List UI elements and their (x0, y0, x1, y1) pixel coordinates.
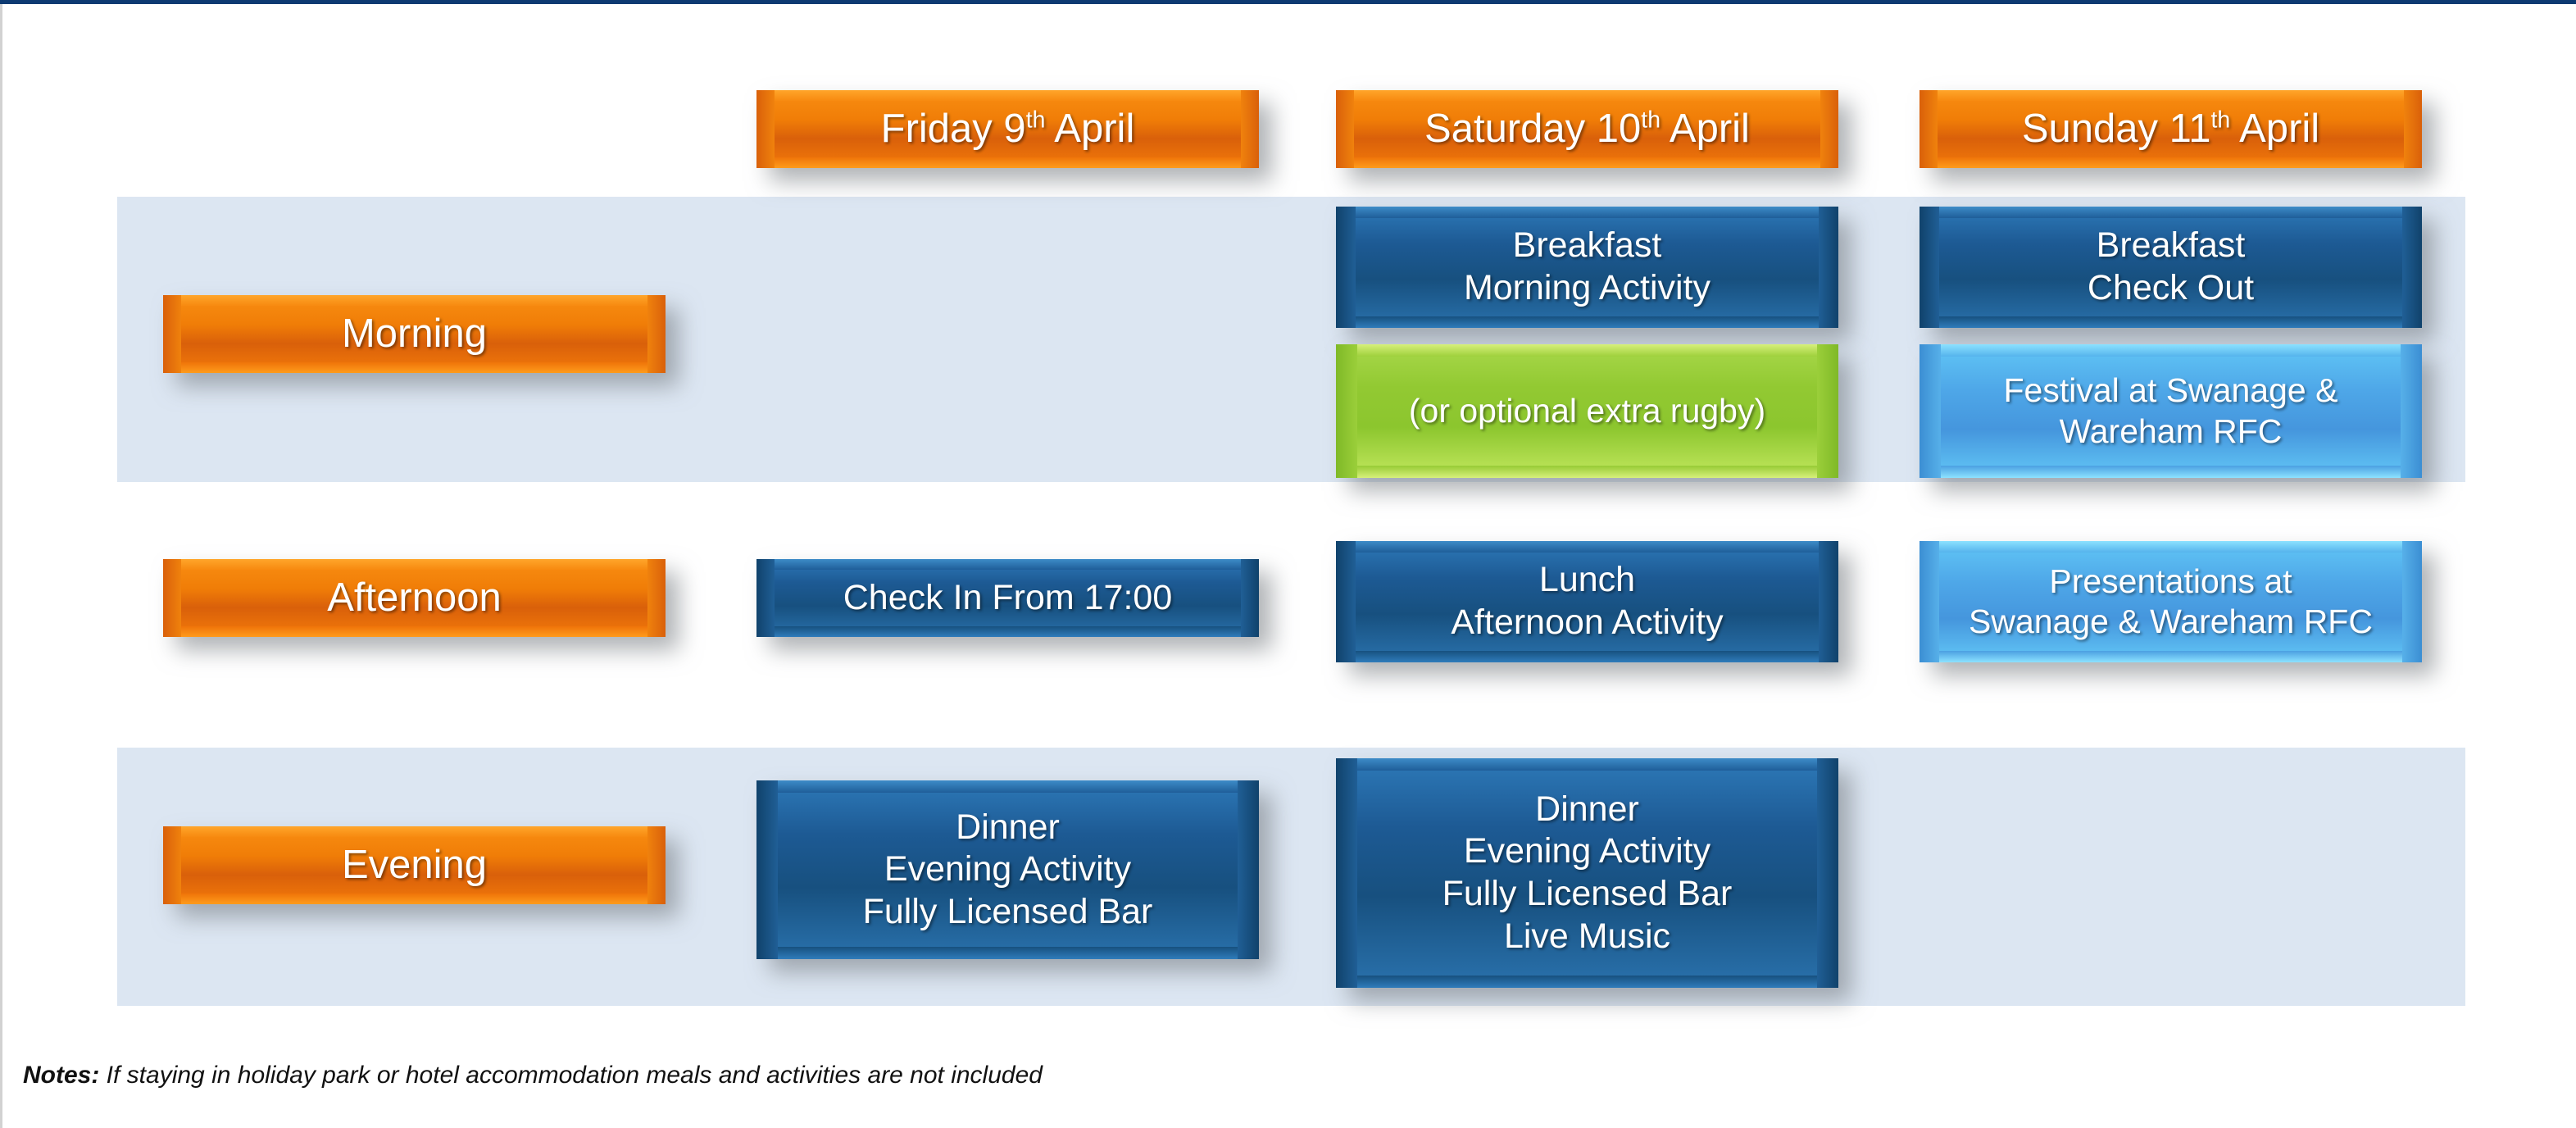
notes-footer: Notes: If staying in holiday park or hot… (23, 1062, 1043, 1089)
cell-saturday-afternoon-text: Lunch Afternoon Activity (1336, 559, 1838, 644)
cell-friday-afternoon[interactable]: Check In From 17:00 (756, 559, 1259, 637)
schedule-diagram: Friday 9th April Saturday 10th April Sun… (0, 0, 2576, 1128)
cell-saturday-morning-main-text: Breakfast Morning Activity (1336, 225, 1838, 309)
left-border-rule (0, 4, 2, 1128)
cell-sunday-morning-main-text: Breakfast Check Out (1920, 225, 2422, 309)
row-label-afternoon-text: Afternoon (163, 574, 666, 622)
cell-sunday-morning-festival-text: Festival at Swanage & Wareham RFC (1920, 371, 2422, 451)
column-header-saturday[interactable]: Saturday 10th April (1336, 90, 1838, 168)
row-label-morning[interactable]: Morning (163, 295, 666, 373)
cell-sunday-afternoon[interactable]: Presentations at Swanage & Wareham RFC (1920, 541, 2422, 662)
column-header-saturday-label: Saturday 10th April (1336, 105, 1838, 153)
cell-friday-evening[interactable]: Dinner Evening Activity Fully Licensed B… (756, 780, 1259, 959)
row-label-morning-text: Morning (163, 310, 666, 358)
cell-friday-evening-text: Dinner Evening Activity Fully Licensed B… (756, 807, 1259, 934)
cell-sunday-morning-festival[interactable]: Festival at Swanage & Wareham RFC (1920, 344, 2422, 478)
row-label-evening-text: Evening (163, 841, 666, 889)
notes-text: If staying in holiday park or hotel acco… (99, 1062, 1043, 1089)
row-label-afternoon[interactable]: Afternoon (163, 559, 666, 637)
cell-saturday-afternoon[interactable]: Lunch Afternoon Activity (1336, 541, 1838, 662)
column-header-sunday-label: Sunday 11th April (1920, 105, 2422, 153)
cell-saturday-morning-main[interactable]: Breakfast Morning Activity (1336, 207, 1838, 328)
top-accent-rule (0, 0, 2576, 4)
column-header-friday[interactable]: Friday 9th April (756, 90, 1259, 168)
row-label-evening[interactable]: Evening (163, 826, 666, 904)
cell-saturday-morning-option-text: (or optional extra rugby) (1336, 391, 1838, 431)
cell-sunday-morning-main[interactable]: Breakfast Check Out (1920, 207, 2422, 328)
cell-saturday-evening-text: Dinner Evening Activity Fully Licensed B… (1336, 789, 1838, 957)
cell-saturday-evening[interactable]: Dinner Evening Activity Fully Licensed B… (1336, 758, 1838, 988)
cell-friday-afternoon-text: Check In From 17:00 (756, 577, 1259, 620)
cell-sunday-afternoon-text: Presentations at Swanage & Wareham RFC (1920, 562, 2422, 642)
column-header-sunday[interactable]: Sunday 11th April (1920, 90, 2422, 168)
column-header-friday-label: Friday 9th April (756, 105, 1259, 153)
notes-label: Notes: (23, 1062, 99, 1089)
cell-saturday-morning-option[interactable]: (or optional extra rugby) (1336, 344, 1838, 478)
